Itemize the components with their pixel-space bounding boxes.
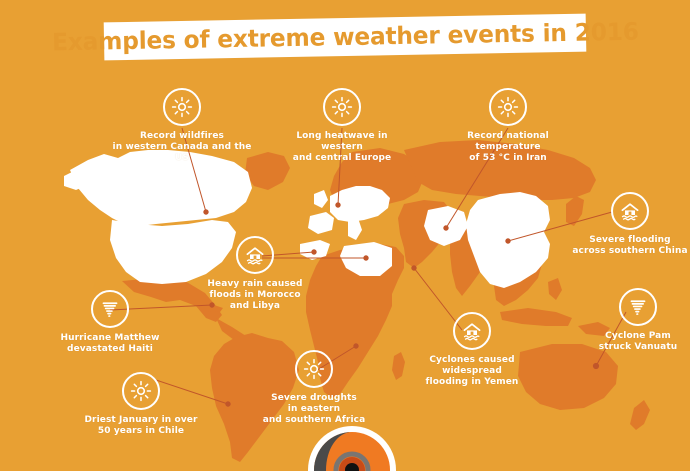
callout-driest-january-chile[interactable]: Driest January in over 50 years in Chile [82, 372, 200, 437]
land-madagascar [392, 352, 405, 380]
land-newzealand [630, 400, 650, 430]
callout-label: Severe droughts in eastern and southern … [263, 393, 366, 426]
flood-house-icon [453, 312, 491, 350]
callout-label: Record wildfires in western Canada and t… [112, 131, 252, 164]
callout-floods-morocco-libya[interactable]: Heavy rain caused floods in Morocco and … [196, 236, 314, 312]
land-australia [518, 344, 618, 410]
callout-label: Long heatwave in western and central Eur… [278, 131, 406, 164]
flood-house-icon [236, 236, 274, 274]
callout-temperature-iran[interactable]: Record national temperature of 53 °C in … [440, 88, 576, 164]
highlight-italy [348, 218, 362, 240]
callout-flooding-china[interactable]: Severe flooding across southern China [572, 192, 688, 257]
infographic-page: Examples of extreme weather events in 20… [0, 0, 690, 471]
callout-label: Cyclone Pam struck Vanuatu [599, 331, 678, 353]
callout-label: Heavy rain caused floods in Morocco and … [207, 279, 302, 312]
callout-droughts-africa[interactable]: Severe droughts in eastern and southern … [250, 350, 378, 426]
callout-label: Severe flooding across southern China [572, 235, 687, 257]
sun-icon [163, 88, 201, 126]
highlight-uk [314, 190, 328, 208]
flood-house-icon [611, 192, 649, 230]
callout-label: Record national temperature of 53 °C in … [440, 131, 576, 164]
callout-label: Cyclones caused widespread flooding in Y… [426, 355, 519, 388]
callout-label: Hurricane Matthew devastated Haiti [60, 333, 159, 355]
sun-icon [323, 88, 361, 126]
sun-icon [295, 350, 333, 388]
callout-flooding-yemen[interactable]: Cyclones caused widespread flooding in Y… [420, 312, 524, 388]
page-title: Examples of extreme weather events in 20… [51, 18, 638, 57]
callout-cyclone-pam-vanuatu[interactable]: Cyclone Pam struck Vanuatu [588, 288, 688, 353]
cyclone-icon [91, 290, 129, 328]
highlight-iberia [308, 212, 334, 234]
callout-hurricane-matthew-haiti[interactable]: Hurricane Matthew devastated Haiti [50, 290, 170, 355]
magnifier-globe-icon [306, 424, 398, 471]
cyclone-icon [619, 288, 657, 326]
callout-heatwave-europe[interactable]: Long heatwave in western and central Eur… [278, 88, 406, 164]
callout-wildfires-canada-us[interactable]: Record wildfires in western Canada and t… [112, 88, 252, 164]
sun-icon [489, 88, 527, 126]
land-philippines [548, 278, 562, 300]
sun-icon [122, 372, 160, 410]
callout-label: Driest January in over 50 years in Chile [84, 415, 197, 437]
